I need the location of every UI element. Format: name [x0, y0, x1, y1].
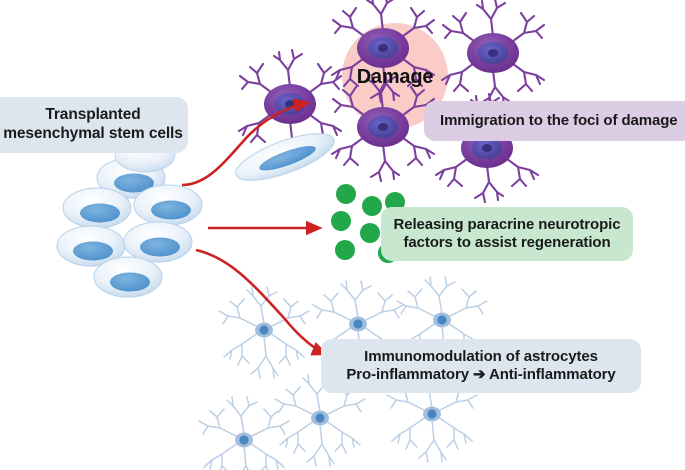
immuno-line-1: Immunomodulation of astrocytes [364, 348, 598, 366]
immigration-label-box: Immigration to the foci of damage [424, 101, 685, 141]
paracrine-dot [360, 223, 380, 243]
stem-cell [94, 257, 162, 297]
paracrine-dot [362, 196, 382, 216]
immuno-line-2: Pro-inflammatory ➔ Anti-inflammatory [346, 366, 615, 384]
paracrine-line-1: Releasing paracrine neurotropic [394, 216, 621, 234]
neuron-right-upper [442, 0, 544, 107]
paracrine-dot [336, 184, 356, 204]
paracrine-line-2: factors to assist regeneration [403, 234, 610, 252]
stem-cell-migrating [231, 124, 340, 190]
arrow-to-astrocytes [196, 250, 326, 354]
astrocyte [199, 397, 289, 470]
paracrine-label-box: Releasing paracrine neurotropic factors … [381, 207, 633, 261]
paracrine-dot [335, 240, 355, 260]
immigration-line-1: Immigration to the foci of damage [432, 112, 678, 130]
transplanted-line-1: Transplanted [45, 106, 140, 125]
damage-label: Damage [340, 66, 450, 89]
paracrine-dot [331, 211, 351, 231]
stem-cell [134, 185, 202, 225]
stem-cell-cluster [57, 138, 202, 297]
figure-canvas: Damage Transplanted mesenchymal stem cel… [0, 0, 685, 470]
transplanted-cells-label-box: Transplanted mesenchymal stem cells [0, 97, 188, 153]
stem-cell [63, 188, 131, 228]
immunomodulation-label-box: Immunomodulation of astrocytes Pro-infla… [321, 339, 641, 393]
stem-cell [124, 222, 192, 262]
transplanted-line-2: mesenchymal stem cells [3, 125, 183, 144]
